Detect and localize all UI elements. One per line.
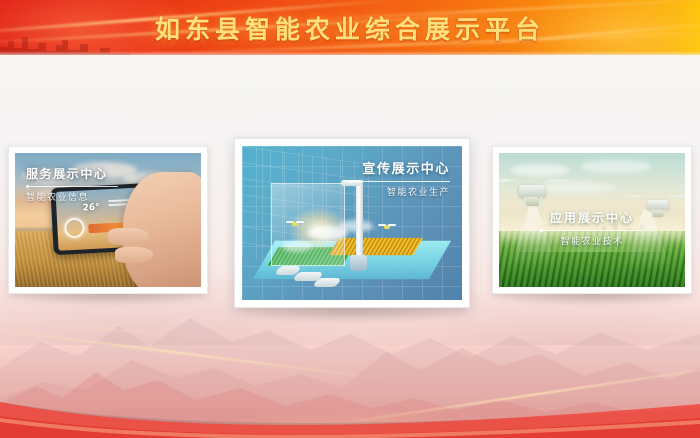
card-caption-promotion: 宣传展示中心 智能农业生产 [350, 158, 450, 198]
header-banner: 如东县智能农业综合展示平台 [0, 0, 700, 55]
caption-divider [350, 181, 450, 182]
card-caption-service: 服务展示中心 智能农业信息 [26, 165, 118, 203]
card-image-application: 应用展示中心 智能农业技术 [499, 153, 685, 287]
card-subtitle: 智能农业生产 [350, 185, 450, 198]
caption-divider [26, 186, 118, 187]
page-title: 如东县智能农业综合展示平台 [0, 0, 700, 55]
bottom-ribbon-highlight [0, 398, 700, 438]
card-subtitle: 智能农业技术 [499, 234, 685, 247]
card-title: 服务展示中心 [26, 165, 118, 182]
card-title: 宣传展示中心 [350, 158, 450, 177]
drone-icon [286, 220, 304, 228]
card-caption-application: 应用展示中心 智能农业技术 [499, 209, 685, 247]
card-image-service: 26° 服务展示中心 智能农业信息 [15, 153, 201, 287]
drone-icon [499, 174, 569, 208]
card-subtitle: 智能农业信息 [26, 190, 118, 203]
card-image-promotion: 宣传展示中心 智能农业生产 [242, 146, 462, 300]
caption-divider [540, 230, 644, 231]
drone-icon [378, 223, 396, 231]
card-title: 应用展示中心 [499, 209, 685, 226]
app-stage: 如东县智能农业综合展示平台 26° [0, 0, 700, 438]
card-service-display-center[interactable]: 26° 服务展示中心 智能农业信息 [8, 146, 208, 294]
card-promotion-display-center[interactable]: 宣传展示中心 智能农业生产 [234, 138, 470, 308]
banner-edge-fade [0, 51, 700, 55]
card-application-display-center[interactable]: 应用展示中心 智能农业技术 [492, 146, 692, 294]
